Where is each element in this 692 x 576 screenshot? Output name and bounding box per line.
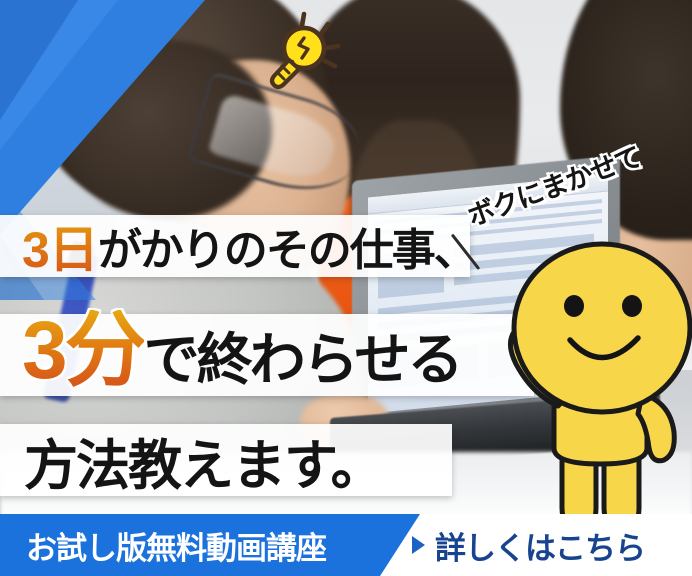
headline-line-2: 3分で終わらせる xyxy=(0,314,534,396)
cta-badge[interactable]: お試し版無料動画講座 xyxy=(0,514,420,576)
cta-details-link[interactable]: 詳しくはこちら xyxy=(412,514,645,576)
headline-line-3: 方法教えます。 xyxy=(0,424,452,496)
headline-line-1: 3日がかりのその仕事、 xyxy=(0,215,470,277)
play-triangle-icon xyxy=(412,536,425,554)
headline-2-rest: で終わらせる xyxy=(144,315,461,396)
cta-badge-label: お試し版無料動画講座 xyxy=(0,523,326,568)
headline-1-rest: がかりのその仕事、 xyxy=(98,214,476,278)
ad-banner: 3日がかりのその仕事、 3分で終わらせる 方法教えます。 ボクにまかせて xyxy=(0,0,692,576)
headline-2-accent: 3分 xyxy=(22,310,144,392)
headline-3-rest: 方法教えます。 xyxy=(24,421,383,500)
headline-1-accent: 3日 xyxy=(22,210,98,282)
lightbulb-idea-icon xyxy=(262,8,350,100)
cta-bar: お試し版無料動画講座 詳しくはこちら xyxy=(0,514,692,576)
cta-details-label: 詳しくはこちら xyxy=(435,523,645,568)
yellow-mascot-character xyxy=(492,236,692,542)
